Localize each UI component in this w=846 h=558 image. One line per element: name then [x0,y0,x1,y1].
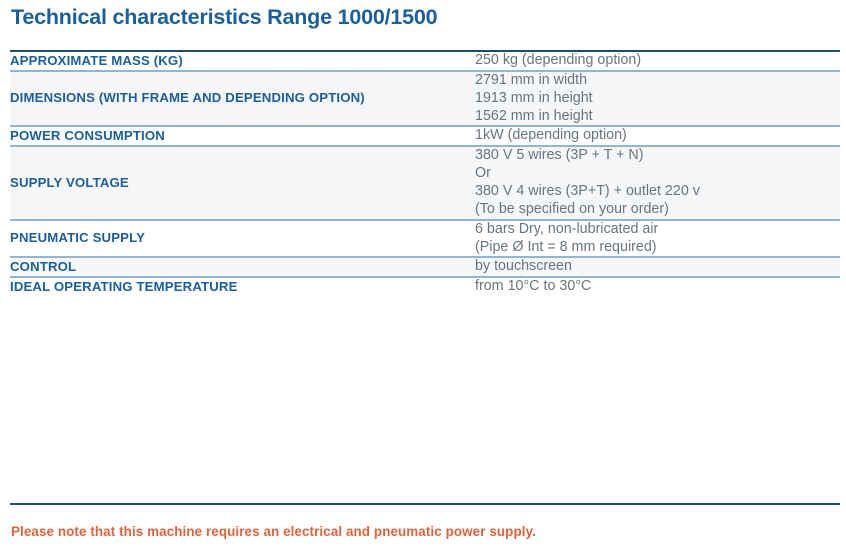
spec-value: by touchscreen [475,257,840,277]
spec-value: 380 V 5 wires (3P + T + N) Or 380 V 4 wi… [475,146,840,219]
spec-value-line: from 10°C to 30°C [475,278,840,296]
table-row: CONTROL by touchscreen [10,257,840,277]
table-row: SUPPLY VOLTAGE 380 V 5 wires (3P + T + N… [10,146,840,219]
spec-label: APPROXIMATE MASS (KG) [10,51,475,71]
spec-value: 1kW (depending option) [475,126,840,146]
spec-value-line: 380 V 4 wires (3P+T) + outlet 220 v [475,183,840,201]
page-title: Technical characteristics Range 1000/150… [11,5,437,30]
spec-label: POWER CONSUMPTION [10,126,475,146]
spec-value-line: 380 V 5 wires (3P + T + N) [475,147,840,165]
table-row: DIMENSIONS (WITH FRAME AND DEPENDING OPT… [10,71,840,127]
spec-label: SUPPLY VOLTAGE [10,146,475,219]
spec-label: DIMENSIONS (WITH FRAME AND DEPENDING OPT… [10,71,475,127]
table-row: IDEAL OPERATING TEMPERATURE from 10°C to… [10,277,840,296]
spec-sheet-page: Technical characteristics Range 1000/150… [0,0,846,558]
spec-label: CONTROL [10,257,475,277]
table-body: APPROXIMATE MASS (KG) 250 kg (depending … [10,51,840,296]
table-row: APPROXIMATE MASS (KG) 250 kg (depending … [10,51,840,71]
spec-label: PNEUMATIC SUPPLY [10,220,475,258]
spec-value-line: by touchscreen [475,258,840,276]
spec-label: IDEAL OPERATING TEMPERATURE [10,277,475,296]
spec-value: from 10°C to 30°C [475,277,840,296]
spec-value-line: (To be specified on your order) [475,201,840,219]
spec-value-line: 250 kg (depending option) [475,52,840,70]
spec-value-line: Or [475,165,840,183]
spec-value-line: 6 bars Dry, non-lubricated air [475,221,840,239]
table-bottom-divider [10,503,840,505]
spec-value-line: 1562 mm in height [475,108,840,126]
spec-value: 250 kg (depending option) [475,51,840,71]
spec-value-line: 1913 mm in height [475,90,840,108]
spec-value-line: 2791 mm in width [475,72,840,90]
table-row: PNEUMATIC SUPPLY 6 bars Dry, non-lubrica… [10,220,840,258]
power-supply-note: Please note that this machine requires a… [11,524,536,539]
technical-characteristics-table: APPROXIMATE MASS (KG) 250 kg (depending … [10,50,840,296]
spec-value-line: 1kW (depending option) [475,127,840,145]
spec-value-line: (Pipe Ø Int = 8 mm required) [475,239,840,257]
table-row: POWER CONSUMPTION 1kW (depending option) [10,126,840,146]
spec-value: 2791 mm in width 1913 mm in height 1562 … [475,71,840,127]
spec-value: 6 bars Dry, non-lubricated air (Pipe Ø I… [475,220,840,258]
